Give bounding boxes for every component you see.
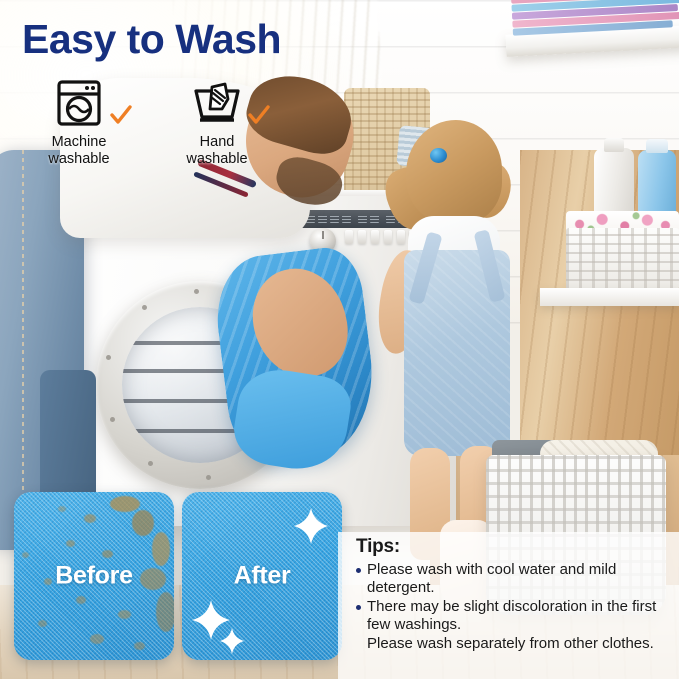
orange-check-icon [248, 105, 270, 130]
sparkle-icon [220, 628, 244, 659]
tip-continuation: Please wash separately from other clothe… [367, 635, 674, 653]
tip-item: Please wash with cool water and mild det… [356, 561, 674, 597]
bullet-icon [356, 568, 361, 573]
hand-wash-icon [192, 79, 242, 132]
wash-care-badges: Machinewashable Han [30, 78, 266, 167]
detergent-cap-white [604, 138, 624, 152]
washing-machine-icon [56, 79, 102, 132]
tips-title: Tips: [356, 536, 674, 558]
badge-hand-washable: Handwashable [168, 78, 266, 167]
detergent-cap-blue [646, 139, 668, 153]
orange-check-icon [110, 105, 132, 130]
after-label: After [182, 562, 342, 591]
badge-label: Handwashable [168, 134, 266, 167]
after-tile: After [182, 492, 342, 660]
badge-machine-washable: Machinewashable [30, 78, 128, 167]
before-tile: Before [14, 492, 174, 660]
tip-text: Please wash with cool water and mild det… [367, 561, 674, 597]
floral-basket [566, 228, 679, 290]
bullet-icon [356, 605, 361, 610]
before-label: Before [14, 562, 174, 591]
page-title: Easy to Wash [22, 16, 281, 63]
girl-hair [406, 120, 502, 224]
tip-item: There may be slight discoloration in the… [356, 598, 674, 634]
product-infographic: Easy to Wash [0, 0, 679, 679]
tip-text: There may be slight discoloration in the… [367, 598, 674, 634]
badge-label: Machinewashable [30, 134, 128, 167]
blue-hair-tie [430, 148, 447, 163]
tips-panel: Tips: Please wash with cool water and mi… [356, 536, 674, 653]
counter-surface [540, 288, 679, 306]
before-after-comparison: Before After [14, 492, 342, 660]
washer-buttons[interactable] [345, 230, 417, 252]
sparkle-icon [294, 508, 328, 549]
